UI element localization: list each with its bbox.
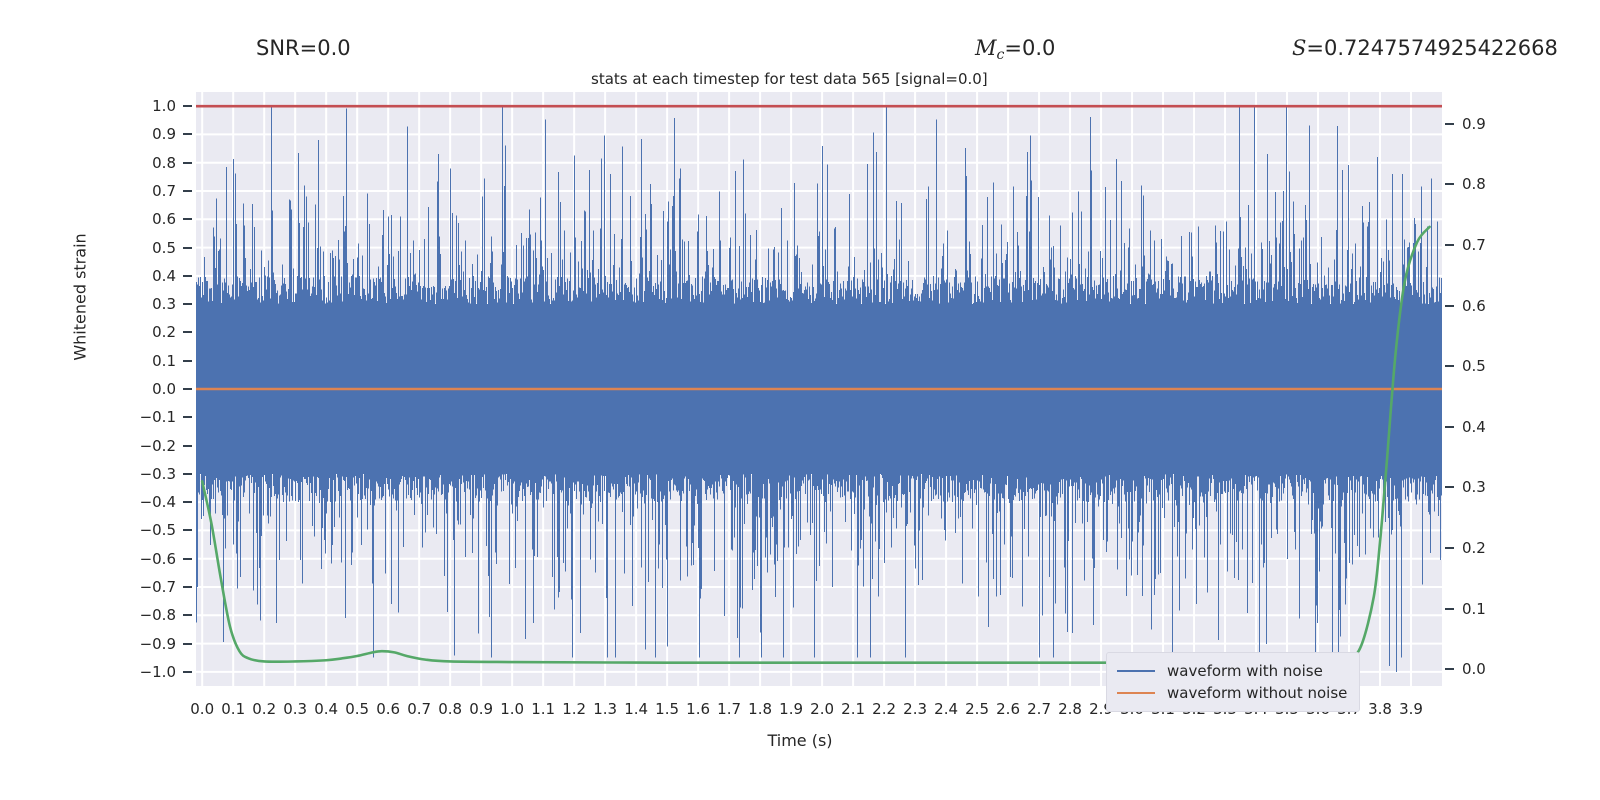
y-tick-label-left: 1.0 [118, 97, 176, 115]
y-tick-mark-left [183, 275, 192, 277]
x-tick-label: 3.8 [1368, 700, 1392, 718]
chirp-mass-value: 0.0 [1022, 36, 1055, 60]
y-tick-label-right: 0.0 [1462, 660, 1486, 678]
y-tick-label-left: 0.7 [118, 182, 176, 200]
y-tick-label-left: 0.0 [118, 380, 176, 398]
y-tick-mark-left [183, 586, 192, 588]
y-tick-mark-left [183, 473, 192, 475]
y-tick-mark-left [183, 360, 192, 362]
x-tick-label: 0.1 [221, 700, 245, 718]
legend[interactable]: waveform with noise waveform without noi… [1106, 652, 1360, 712]
x-tick-label: 1.7 [717, 700, 741, 718]
legend-label-clean: waveform without noise [1167, 684, 1347, 702]
y-tick-mark-right [1445, 426, 1454, 428]
y-tick-mark-right [1445, 608, 1454, 610]
legend-item-noise[interactable]: waveform with noise [1117, 660, 1347, 682]
y-tick-label-right: 0.5 [1462, 357, 1486, 375]
y-tick-mark-right [1445, 365, 1454, 367]
y-tick-label-left: −0.6 [118, 550, 176, 568]
legend-swatch-noise [1117, 670, 1155, 672]
y-tick-label-left: −1.0 [118, 663, 176, 681]
x-tick-label: 0.9 [469, 700, 493, 718]
x-tick-label: 0.6 [376, 700, 400, 718]
y-tick-label-right: 0.8 [1462, 175, 1486, 193]
y-tick-mark-right [1445, 305, 1454, 307]
y-tick-label-left: −0.3 [118, 465, 176, 483]
y-tick-label-left: −0.2 [118, 437, 176, 455]
x-tick-label: 3.9 [1399, 700, 1423, 718]
y-tick-label-left: 0.2 [118, 323, 176, 341]
y-tick-mark-left [183, 105, 192, 107]
y-tick-label-right: 0.7 [1462, 236, 1486, 254]
y-tick-mark-left [183, 218, 192, 220]
y-tick-mark-left [183, 190, 192, 192]
x-tick-label: 2.7 [1027, 700, 1051, 718]
y-tick-mark-right [1445, 668, 1454, 670]
x-tick-label: 0.3 [283, 700, 307, 718]
x-tick-label: 2.6 [996, 700, 1020, 718]
y-tick-mark-left [183, 529, 192, 531]
y-tick-mark-left [183, 303, 192, 305]
y-tick-mark-left [183, 643, 192, 645]
x-tick-label: 1.1 [531, 700, 555, 718]
y-tick-label-left: −0.1 [118, 408, 176, 426]
x-tick-label: 2.3 [903, 700, 927, 718]
chirp-mass-annotation: Mc=0.0 [975, 36, 1055, 63]
y-tick-mark-left [183, 331, 192, 333]
snr-annotation: SNR=0.0 [256, 36, 351, 60]
x-tick-label: 1.5 [655, 700, 679, 718]
score-eq: = [1306, 36, 1324, 60]
plot-svg [196, 92, 1442, 686]
x-tick-label: 2.4 [934, 700, 958, 718]
y-tick-mark-left [183, 445, 192, 447]
y-axis-label-left: Whitened strain [71, 167, 90, 427]
y-tick-label-left: −0.7 [118, 578, 176, 596]
snr-annotation-text: SNR=0.0 [256, 36, 351, 60]
y-tick-mark-left [183, 133, 192, 135]
y-tick-mark-left [183, 162, 192, 164]
x-tick-label: 1.2 [562, 700, 586, 718]
y-tick-mark-left [183, 671, 192, 673]
y-tick-label-left: 0.6 [118, 210, 176, 228]
y-tick-label-left: 0.8 [118, 154, 176, 172]
legend-item-clean[interactable]: waveform without noise [1117, 682, 1347, 704]
x-tick-label: 1.3 [593, 700, 617, 718]
x-tick-label: 1.8 [748, 700, 772, 718]
y-tick-label-left: 0.3 [118, 295, 176, 313]
y-tick-mark-left [183, 247, 192, 249]
y-tick-mark-right [1445, 183, 1454, 185]
y-tick-label-left: 0.4 [118, 267, 176, 285]
x-tick-label: 2.0 [810, 700, 834, 718]
y-tick-mark-left [183, 614, 192, 616]
x-tick-label: 1.9 [779, 700, 803, 718]
y-tick-mark-left [183, 501, 192, 503]
chirp-mass-symbol: M [975, 36, 997, 60]
y-tick-mark-left [183, 388, 192, 390]
x-tick-label: 1.4 [624, 700, 648, 718]
y-tick-label-right: 0.3 [1462, 478, 1486, 496]
x-tick-label: 2.2 [872, 700, 896, 718]
x-tick-label: 0.5 [345, 700, 369, 718]
y-tick-label-left: −0.8 [118, 606, 176, 624]
x-tick-label: 0.7 [407, 700, 431, 718]
y-tick-label-left: 0.5 [118, 239, 176, 257]
score-annotation: S=0.7247574925422668 [1292, 36, 1558, 60]
figure-canvas: SNR=0.0 Mc=0.0 S=0.7247574925422668 stat… [0, 0, 1600, 800]
x-tick-label: 0.4 [314, 700, 338, 718]
y-tick-label-left: 0.1 [118, 352, 176, 370]
x-tick-label: 0.8 [438, 700, 462, 718]
y-tick-label-left: −0.9 [118, 635, 176, 653]
plot-area[interactable] [196, 92, 1442, 686]
x-tick-label: 1.6 [686, 700, 710, 718]
y-tick-mark-left [183, 416, 192, 418]
y-tick-mark-right [1445, 244, 1454, 246]
legend-swatch-clean [1117, 692, 1155, 694]
y-tick-label-left: −0.5 [118, 521, 176, 539]
y-tick-label-left: −0.4 [118, 493, 176, 511]
x-tick-label: 2.1 [841, 700, 865, 718]
x-tick-label: 2.5 [965, 700, 989, 718]
x-tick-label: 0.0 [190, 700, 214, 718]
y-tick-mark-right [1445, 547, 1454, 549]
y-tick-label-right: 0.6 [1462, 297, 1486, 315]
y-tick-label-right: 0.4 [1462, 418, 1486, 436]
x-tick-label: 2.8 [1058, 700, 1082, 718]
x-axis-label: Time (s) [0, 731, 1600, 750]
x-tick-label: 1.0 [500, 700, 524, 718]
y-tick-label-right: 0.9 [1462, 115, 1486, 133]
y-tick-label-left: 0.9 [118, 125, 176, 143]
x-tick-label: 0.2 [252, 700, 276, 718]
y-tick-label-right: 0.2 [1462, 539, 1486, 557]
y-tick-mark-right [1445, 123, 1454, 125]
score-value: 0.7247574925422668 [1324, 36, 1558, 60]
y-tick-label-right: 0.1 [1462, 600, 1486, 618]
y-tick-mark-left [183, 558, 192, 560]
y-tick-mark-right [1445, 486, 1454, 488]
chirp-mass-value-eq: = [1004, 36, 1022, 60]
legend-label-noise: waveform with noise [1167, 662, 1323, 680]
plot-title: stats at each timestep for test data 565… [591, 70, 988, 88]
score-symbol: S [1292, 36, 1306, 60]
